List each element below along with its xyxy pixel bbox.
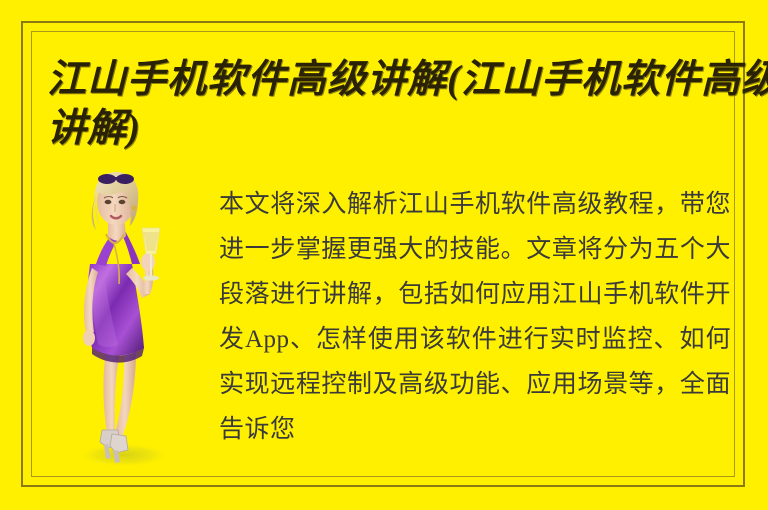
body-paragraph: 本文将深入解析江山手机软件高级教程，带您进一步掌握更强大的技能。文章将分为五个大… <box>219 182 731 452</box>
hand-left <box>83 330 95 346</box>
earring <box>131 205 136 210</box>
hand-right <box>141 253 155 271</box>
poster-canvas: 江山手机软件高级讲解(江山手机软件高级讲解) <box>0 0 768 510</box>
legs <box>103 350 136 438</box>
illustration-cartoon-woman <box>62 172 222 472</box>
cartoon-woman-icon <box>62 172 222 472</box>
page-title: 江山手机软件高级讲解(江山手机软件高级讲解) <box>47 55 768 153</box>
